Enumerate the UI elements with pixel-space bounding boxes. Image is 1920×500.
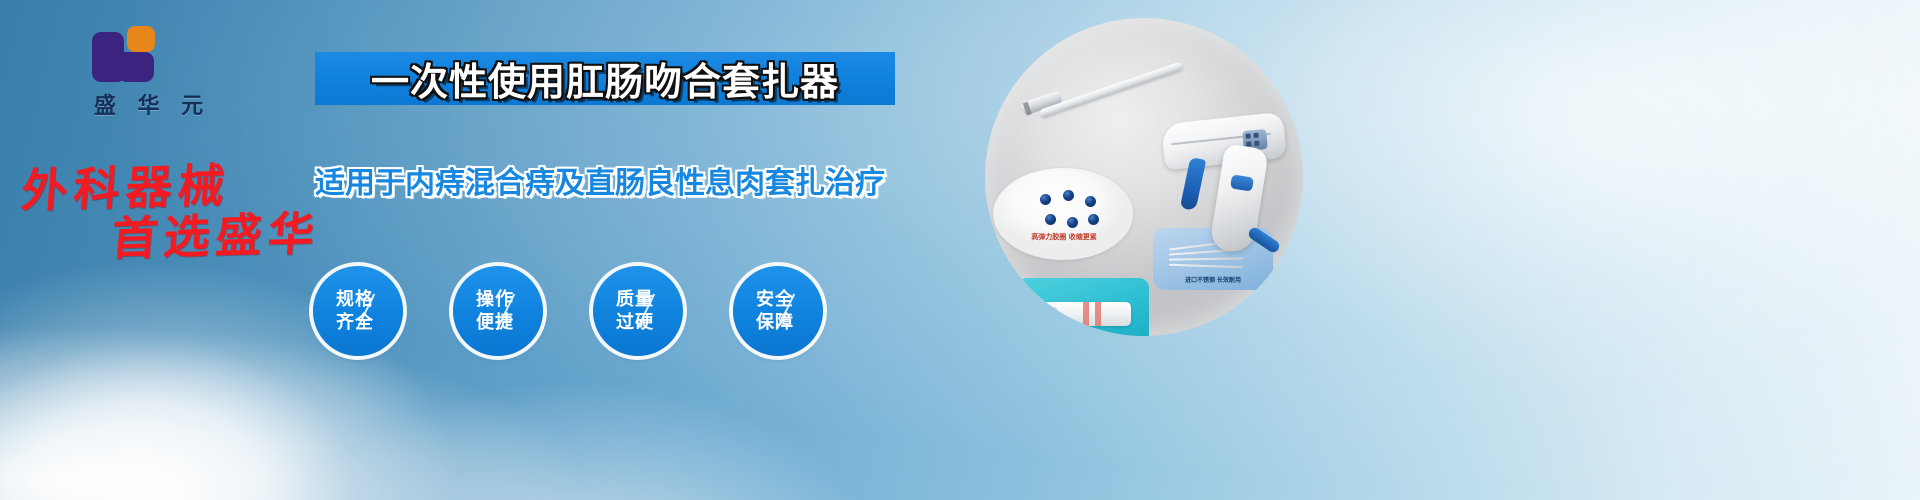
badge-label-line1: 安全	[756, 288, 794, 311]
needles-caption: 进口不锈钢 长效耐用	[1153, 275, 1273, 284]
feature-badge-safety-text: 安全 保障	[733, 266, 823, 356]
ligation-tube-tip	[1041, 307, 1057, 321]
feature-badge-specs[interactable]: 规格 齐全	[313, 266, 403, 356]
badge-label-line1: 操作	[476, 288, 514, 311]
badge-label-line2: 过硬	[616, 311, 654, 334]
needle-icon	[1169, 264, 1243, 269]
ligation-tube-band	[1095, 302, 1101, 326]
feature-badge-quality[interactable]: 质量 过硬	[593, 266, 683, 356]
logo-mark-icon	[92, 26, 172, 84]
feature-badge-safety[interactable]: 安全 保障	[733, 266, 823, 356]
bottom-center-glow	[270, 380, 890, 500]
ligation-tube-body	[1039, 302, 1131, 326]
control-pad-key	[1253, 133, 1258, 138]
product-photo-circle: 高弹力胶圈 收缩更紧 进口不锈钢 长效耐用	[985, 18, 1303, 336]
feature-badge-operation-text: 操作 便捷	[453, 266, 543, 356]
top-right-glow	[1220, 0, 1920, 400]
feature-badge-quality-text: 质量 过硬	[593, 266, 683, 356]
control-pad-key	[1245, 133, 1250, 138]
ligation-tube-inset	[1017, 278, 1149, 336]
device-shaft	[1039, 61, 1184, 118]
rubber-band-dot	[1063, 190, 1074, 201]
brand-logo[interactable]: 盛 华 元	[62, 26, 242, 126]
logo-shape-orange-square	[127, 26, 155, 52]
rubber-band-dot	[1040, 194, 1051, 205]
rubber-bands-inset	[993, 168, 1133, 260]
page-subtitle: 适用于内痔混合痔及直肠良性息肉套扎治疗	[300, 160, 900, 200]
promo-banner: 盛 华 元 一次性使用肛肠吻合套扎器 外科器械 首选盛华 适用于内痔混合痔及直肠…	[0, 0, 1920, 500]
badge-label-line2: 保障	[756, 311, 794, 334]
brand-name: 盛 华 元	[62, 88, 242, 120]
logo-shape-lower-right	[118, 52, 154, 82]
badge-label-line2: 便捷	[476, 311, 514, 334]
badge-label-line1: 质量	[616, 288, 654, 311]
ligation-tube-band	[1083, 302, 1089, 326]
rubber-band-dot	[1085, 196, 1096, 207]
rubber-bands-caption: 高弹力胶圈 收缩更紧	[999, 232, 1129, 242]
rubber-band-dot	[1067, 217, 1078, 228]
badge-label-line1: 规格	[336, 288, 374, 311]
slogan-line-2: 首选盛华	[109, 197, 323, 268]
needle-icon	[1169, 257, 1243, 260]
rubber-band-dot	[1088, 214, 1099, 225]
page-title: 一次性使用肛肠吻合套扎器	[315, 50, 895, 107]
control-pad-key	[1254, 141, 1259, 146]
rubber-band-dot	[1045, 214, 1056, 225]
feature-badge-list: 规格 齐全 操作 便捷 质量 过硬 安全 保障	[313, 266, 873, 361]
badge-label-line2: 齐全	[336, 311, 374, 334]
feature-badge-operation[interactable]: 操作 便捷	[453, 266, 543, 356]
feature-badge-specs-text: 规格 齐全	[313, 266, 403, 356]
